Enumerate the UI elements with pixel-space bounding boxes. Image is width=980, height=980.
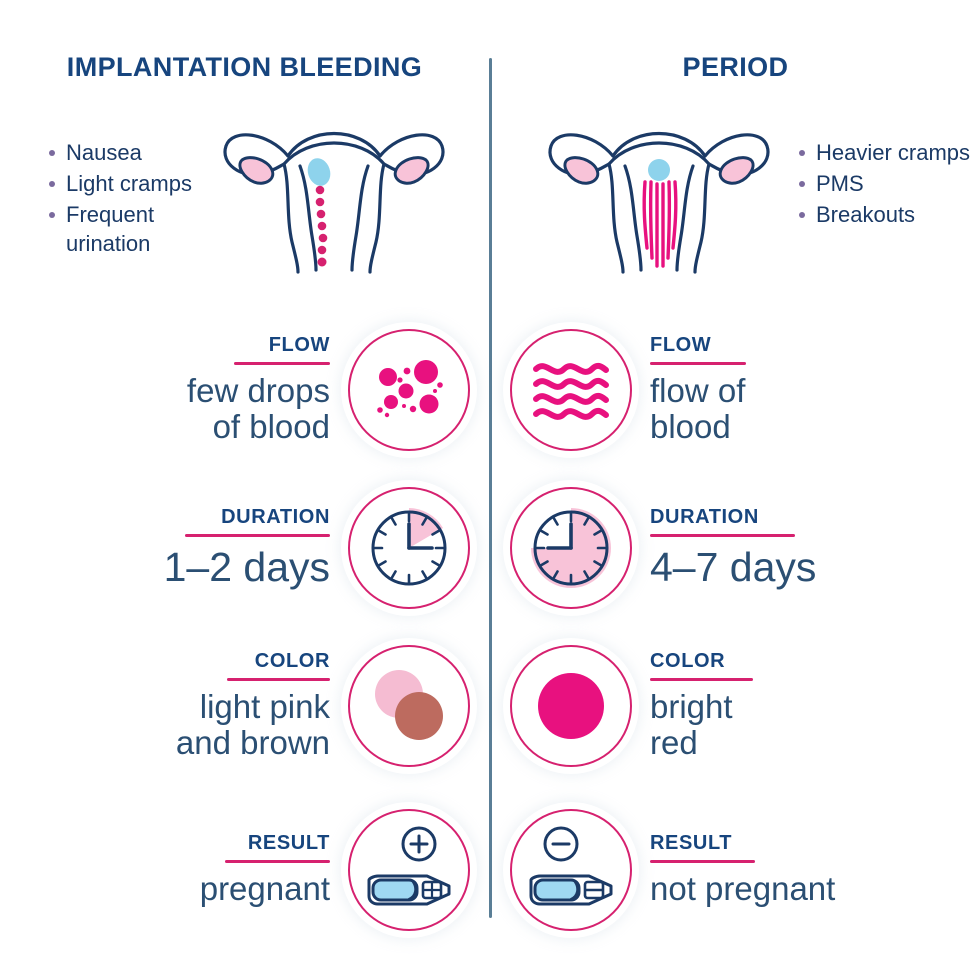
comparison-row-duration: DURATION 1–2 days <box>0 470 980 625</box>
label-underline <box>185 534 330 537</box>
label-underline <box>225 860 330 863</box>
flow-value-left: few drops of blood <box>187 373 330 445</box>
duration-label-right: DURATION <box>650 506 759 534</box>
result-left-cell: RESULT pregnant <box>0 792 470 947</box>
comparison-row-color: COLOR light pink and brown COLOR bri <box>0 628 980 783</box>
clock-icon <box>348 487 470 609</box>
label-underline <box>227 678 330 681</box>
color-value-right: bright red <box>650 689 733 761</box>
list-item: PMS <box>796 169 980 198</box>
duration-label-left: DURATION <box>221 506 330 534</box>
solid-color-circle-icon <box>510 645 632 767</box>
flow-value-right: flow of blood <box>650 373 745 445</box>
flow-label-left: FLOW <box>269 334 330 362</box>
result-right-text: RESULT not pregnant <box>632 832 835 907</box>
label-underline <box>650 534 795 537</box>
list-item: Light cramps <box>46 169 231 198</box>
color-right-text: COLOR bright red <box>632 650 753 761</box>
result-label-left: RESULT <box>248 832 330 860</box>
uterus-implantation-spotting-icon <box>216 116 452 276</box>
list-item: Nausea <box>46 138 231 167</box>
color-value-left: light pink and brown <box>176 689 330 761</box>
column-title-left: IMPLANTATION BLEEDING <box>0 52 489 83</box>
result-value-right: not pregnant <box>650 871 835 907</box>
comparison-row-flow: FLOW few drops of blood <box>0 312 980 467</box>
flow-left-text: FLOW few drops of blood <box>187 334 348 445</box>
comparison-row-result: RESULT pregnant <box>0 792 980 947</box>
color-right-cell: COLOR bright red <box>510 628 980 783</box>
column-title-right: PERIOD <box>491 52 980 83</box>
list-item: Breakouts <box>796 200 980 229</box>
blood-drops-icon <box>348 329 470 451</box>
label-underline <box>234 362 330 365</box>
symptom-list-left: Nausea Light cramps Frequent urination <box>46 138 231 260</box>
duration-right-text: DURATION 4–7 days <box>632 506 816 589</box>
color-left-cell: COLOR light pink and brown <box>0 628 470 783</box>
result-right-cell: RESULT not pregnant <box>510 792 980 947</box>
symptom-list-right: Heavier cramps PMS Breakouts <box>796 138 980 231</box>
label-underline <box>650 678 753 681</box>
result-value-left: pregnant <box>200 871 330 907</box>
result-label-right: RESULT <box>650 832 732 860</box>
flow-right-text: FLOW flow of blood <box>632 334 746 445</box>
wavy-flow-icon <box>510 329 632 451</box>
color-left-text: COLOR light pink and brown <box>176 650 348 761</box>
color-label-left: COLOR <box>255 650 330 678</box>
list-item: Heavier cramps <box>796 138 980 167</box>
duration-left-cell: DURATION 1–2 days <box>0 470 470 625</box>
two-color-circles-icon <box>348 645 470 767</box>
duration-value-right: 4–7 days <box>650 545 816 589</box>
label-underline <box>650 860 755 863</box>
list-item: Frequent urination <box>46 200 231 258</box>
duration-right-cell: DURATION 4–7 days <box>510 470 980 625</box>
duration-left-text: DURATION 1–2 days <box>164 506 348 589</box>
pregnancy-test-positive-icon <box>348 809 470 931</box>
clock-icon <box>510 487 632 609</box>
pregnancy-test-negative-icon <box>510 809 632 931</box>
infographic-page: IMPLANTATION BLEEDING PERIOD Nausea Ligh… <box>0 0 980 980</box>
result-left-text: RESULT pregnant <box>200 832 348 907</box>
label-underline <box>650 362 746 365</box>
duration-value-left: 1–2 days <box>164 545 330 589</box>
color-label-right: COLOR <box>650 650 725 678</box>
flow-right-cell: FLOW flow of blood <box>510 312 980 467</box>
uterus-menstrual-flow-icon <box>541 116 777 276</box>
flow-left-cell: FLOW few drops of blood <box>0 312 470 467</box>
flow-label-right: FLOW <box>650 334 711 362</box>
